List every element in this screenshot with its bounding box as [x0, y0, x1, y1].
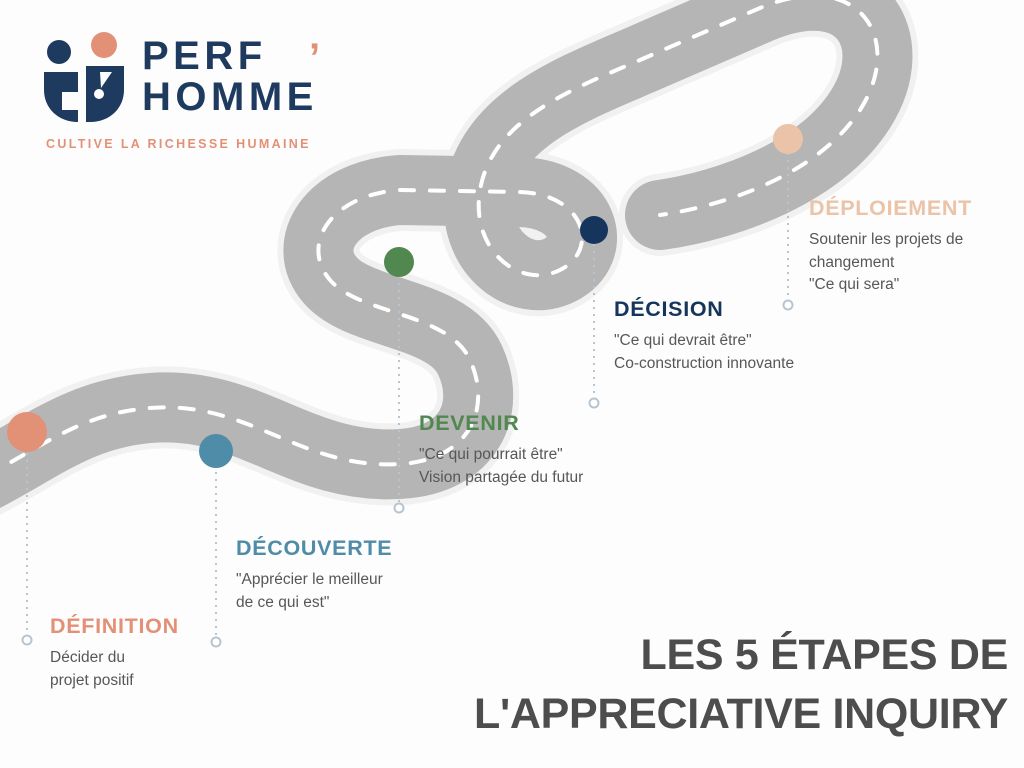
- figure-right-head-icon: [91, 32, 117, 58]
- infographic-canvas: PERF HOMME ’ CULTIVE LA RICHESSE HUMAINE…: [0, 0, 1024, 768]
- two-people-icon: [42, 32, 128, 124]
- logo-apostrophe: ’: [309, 38, 320, 78]
- page-title: LES 5 ÉTAPES DE L'APPRECIATIVE INQUIRY: [368, 626, 1008, 744]
- stage-block-decouverte: DÉCOUVERTE "Apprécier le meilleur de ce …: [236, 536, 536, 614]
- stage-body-line: "Apprécier le meilleur: [236, 569, 536, 592]
- logo-word-homme: HOMME: [142, 77, 332, 118]
- stage-body-line: "Ce qui devrait être": [614, 330, 914, 353]
- stage-block-decision: DÉCISION "Ce qui devrait être" Co-constr…: [614, 297, 914, 375]
- stage-title-definition: DÉFINITION: [50, 614, 350, 638]
- stage-title-decision: DÉCISION: [614, 297, 914, 321]
- stage-title-decouverte: DÉCOUVERTE: [236, 536, 536, 560]
- stage-marker-dot-devenir[interactable]: [384, 247, 414, 277]
- stage-marker-dot-deploiement[interactable]: [773, 124, 803, 154]
- stage-title-deploiement: DÉPLOIEMENT: [809, 196, 1024, 220]
- stage-body-devenir: "Ce qui pourrait être" Vision partagée d…: [419, 444, 719, 489]
- page-title-line1: LES 5 ÉTAPES DE: [368, 626, 1008, 685]
- page-title-line2: L'APPRECIATIVE INQUIRY: [368, 685, 1008, 744]
- stage-marker-dot-definition[interactable]: [7, 412, 47, 452]
- figure-right-dot-icon: [94, 89, 104, 99]
- stage-body-line: "Ce qui sera": [809, 274, 1024, 297]
- stage-block-devenir: DEVENIR "Ce qui pourrait être" Vision pa…: [419, 411, 719, 489]
- stage-title-devenir: DEVENIR: [419, 411, 719, 435]
- stage-body-line: de ce qui est": [236, 592, 536, 615]
- stage-body-line: Vision partagée du futur: [419, 467, 719, 490]
- stage-connector-endpoint: [23, 636, 32, 645]
- stage-body-line: "Ce qui pourrait être": [419, 444, 719, 467]
- brand-logo: PERF HOMME ’ CULTIVE LA RICHESSE HUMAINE: [42, 32, 332, 157]
- stage-body-line: Soutenir les projets de: [809, 229, 1024, 252]
- stage-block-deploiement: DÉPLOIEMENT Soutenir les projets de chan…: [809, 196, 1024, 297]
- figure-left-body-icon: [44, 72, 78, 122]
- stage-body-line: Décider du: [50, 647, 350, 670]
- stage-body-deploiement: Soutenir les projets de changement "Ce q…: [809, 229, 1024, 297]
- stage-body-line: changement: [809, 252, 1024, 275]
- stage-body-decision: "Ce qui devrait être" Co-construction in…: [614, 330, 914, 375]
- logo-tagline: CULTIVE LA RICHESSE HUMAINE: [46, 137, 311, 151]
- stage-body-decouverte: "Apprécier le meilleur de ce qui est": [236, 569, 536, 614]
- stage-body-line: Co-construction innovante: [614, 353, 914, 376]
- logo-wordmark: PERF HOMME ’: [142, 36, 332, 126]
- stage-body-line: projet positif: [50, 670, 350, 693]
- stage-connector-endpoint: [395, 504, 404, 513]
- stage-connector-endpoint: [590, 399, 599, 408]
- logo-word-perf: PERF: [142, 36, 332, 77]
- figure-left-head-icon: [47, 40, 71, 64]
- stage-body-definition: Décider du projet positif: [50, 647, 350, 692]
- stage-marker-dot-decouverte[interactable]: [199, 434, 233, 468]
- stage-marker-dot-decision[interactable]: [580, 216, 608, 244]
- stage-block-definition: DÉFINITION Décider du projet positif: [50, 614, 350, 692]
